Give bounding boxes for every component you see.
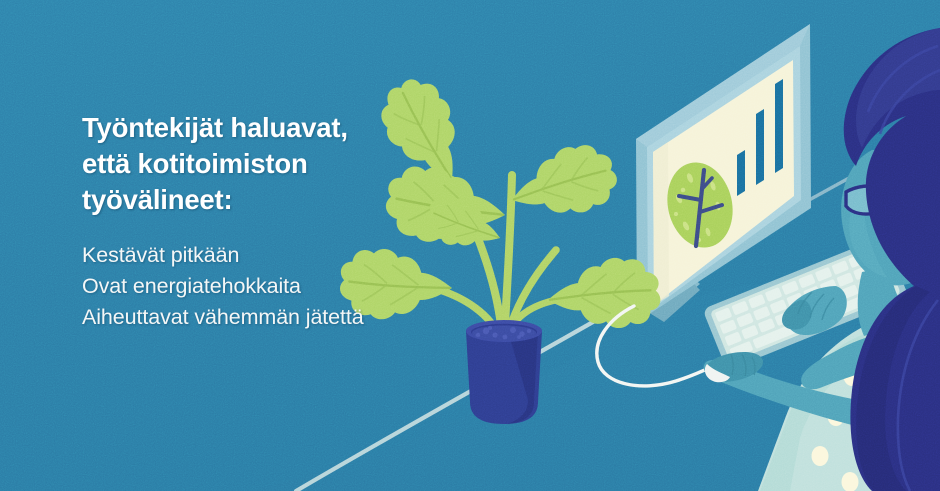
benefit-item-1: Kestävät pitkään (82, 240, 462, 271)
page-title: Työntekijät haluavat, että kotitoimiston… (82, 110, 462, 218)
benefit-item-2: Ovat energiatehokkaita (82, 271, 462, 302)
text-block: Työntekijät haluavat, että kotitoimiston… (82, 110, 462, 332)
benefit-item-3: Aiheuttavat vähemmän jätettä (82, 302, 462, 333)
sustainability-banner: Työntekijät haluavat, että kotitoimiston… (0, 0, 940, 491)
